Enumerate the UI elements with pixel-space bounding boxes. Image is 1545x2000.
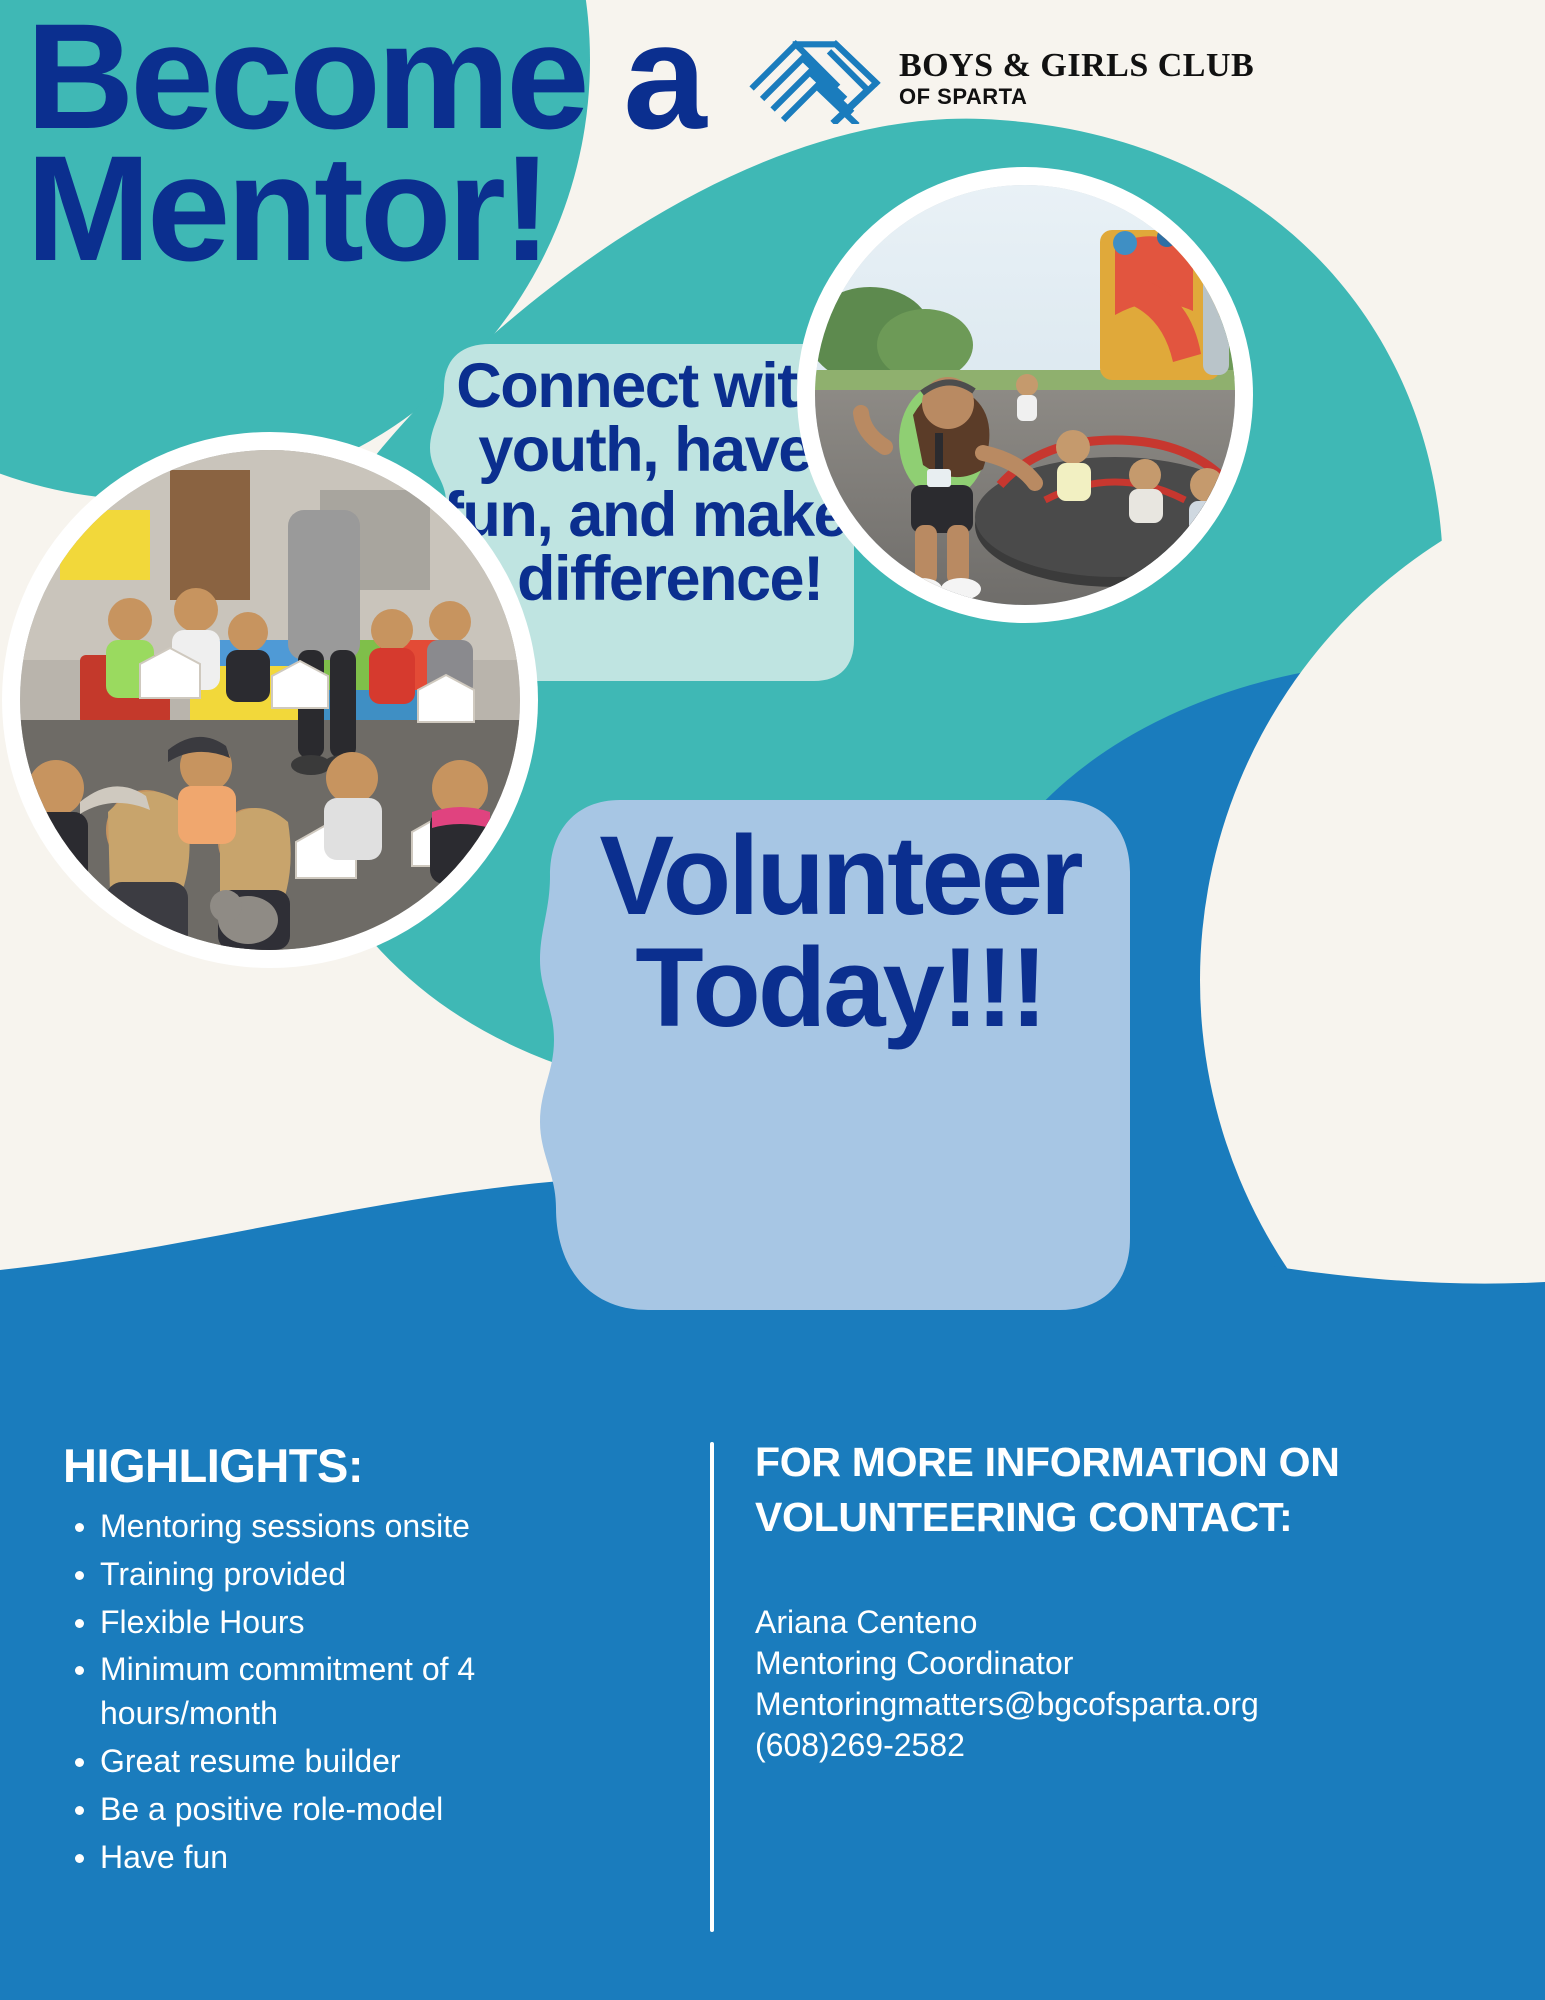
- callout-volunteer-line-1: Volunteer: [599, 813, 1080, 938]
- photo-playground-mentor-image: [815, 185, 1235, 605]
- flyer-poster: Become a Mentor! BOYS & GIRLS CLUB OF SP…: [0, 0, 1545, 2000]
- list-item: Have fun: [55, 1836, 655, 1880]
- photo-club-activity: [20, 450, 520, 950]
- highlights-list: Mentoring sessions onsite Training provi…: [55, 1505, 655, 1880]
- list-item: Great resume builder: [55, 1740, 655, 1784]
- callout-volunteer-text: Volunteer Today!!!: [540, 820, 1140, 1044]
- contact-details: Ariana Centeno Mentoring Coordinator Men…: [755, 1602, 1495, 1766]
- list-item: Training provided: [55, 1553, 655, 1597]
- column-divider: [710, 1442, 714, 1932]
- contact-column: FOR MORE INFORMATION ON VOLUNTEERING CON…: [755, 1435, 1495, 1766]
- callout-volunteer-line-2: Today!!!: [635, 925, 1044, 1050]
- callout-connect-text: Connect with youth, have fun, and make a…: [430, 354, 860, 611]
- logo-text-block: BOYS & GIRLS CLUB OF SPARTA: [899, 49, 1254, 108]
- logo-title: BOYS & GIRLS CLUB: [899, 49, 1254, 83]
- list-item: Be a positive role-model: [55, 1788, 655, 1832]
- contact-email[interactable]: Mentoringmatters@bgcofsparta.org: [755, 1684, 1495, 1725]
- photo-club-activity-image: [20, 450, 520, 950]
- bgc-handshake-icon: [745, 32, 885, 124]
- callout-volunteer: Volunteer Today!!!: [540, 790, 1140, 1360]
- contact-role: Mentoring Coordinator: [755, 1643, 1495, 1684]
- highlights-title: HIGHLIGHTS:: [63, 1438, 655, 1493]
- photo-playground-mentor: [815, 185, 1235, 605]
- headline-line-2: Mentor!: [26, 142, 806, 274]
- highlights-column: HIGHLIGHTS: Mentoring sessions onsite Tr…: [55, 1438, 655, 1884]
- contact-phone[interactable]: (608)269-2582: [755, 1725, 1495, 1766]
- organization-logo: BOYS & GIRLS CLUB OF SPARTA: [745, 28, 1205, 128]
- list-item: Minimum commitment of 4 hours/month: [55, 1648, 655, 1736]
- bottom-info-panel: HIGHLIGHTS: Mentoring sessions onsite Tr…: [0, 1380, 1545, 2000]
- list-item: Flexible Hours: [55, 1601, 655, 1645]
- contact-heading: FOR MORE INFORMATION ON VOLUNTEERING CON…: [755, 1435, 1495, 1544]
- logo-subtitle: OF SPARTA: [899, 86, 1254, 108]
- list-item: Mentoring sessions onsite: [55, 1505, 655, 1549]
- contact-name: Ariana Centeno: [755, 1602, 1495, 1643]
- page-title: Become a Mentor!: [26, 10, 806, 274]
